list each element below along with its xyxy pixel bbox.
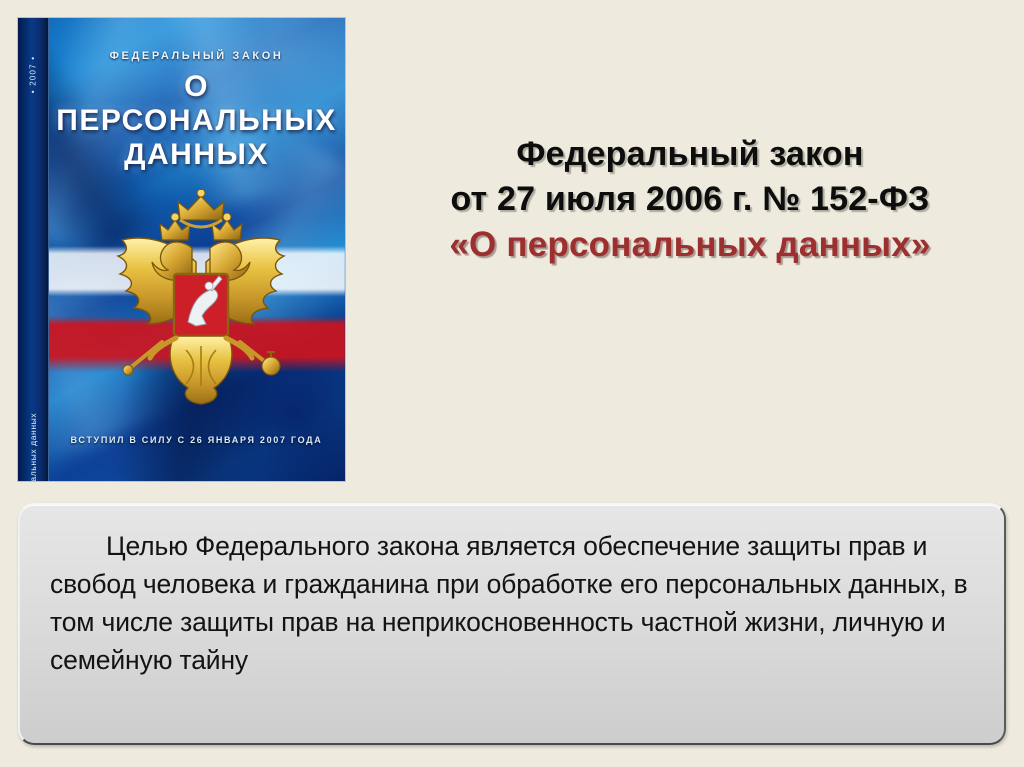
slide-title: Федеральный закон от 27 июля 2006 г. № 1… [366, 132, 1014, 268]
book-cover-title-line-2: ДАННЫХ [48, 138, 345, 172]
russian-coat-of-arms-icon [96, 190, 306, 408]
book-spine-title: О персональных данных [28, 356, 38, 481]
book-cover-footer: ВСТУПИЛ В СИЛУ С 26 ЯНВАРЯ 2007 ГОДА [48, 435, 345, 445]
content-box: Целью Федерального закона является обесп… [18, 503, 1006, 745]
title-line-3: «О персональных данных» [366, 222, 1014, 268]
book-cover-eyebrow: ФЕДЕРАЛЬНЫЙ ЗАКОН [48, 50, 345, 62]
book-spine: • 2007 • О персональных данных [18, 18, 49, 481]
body-paragraph: Целью Федерального закона является обесп… [50, 527, 976, 680]
slide: • 2007 • О персональных данных ФЕДЕРАЛЬН… [0, 0, 1024, 767]
book-cover-silk-background: • 2007 • О персональных данных ФЕДЕРАЛЬН… [18, 18, 345, 481]
book-cover-title-line-1: О ПЕРСОНАЛЬНЫХ [48, 70, 345, 138]
title-line-1: Федеральный закон [366, 132, 1014, 177]
title-line-2: от 27 июля 2006 г. № 152-ФЗ [366, 177, 1014, 222]
book-cover-image: • 2007 • О персональных данных ФЕДЕРАЛЬН… [18, 18, 345, 481]
book-cover-title: О ПЕРСОНАЛЬНЫХ ДАННЫХ [48, 70, 345, 172]
book-spine-year: • 2007 • [29, 40, 38, 110]
